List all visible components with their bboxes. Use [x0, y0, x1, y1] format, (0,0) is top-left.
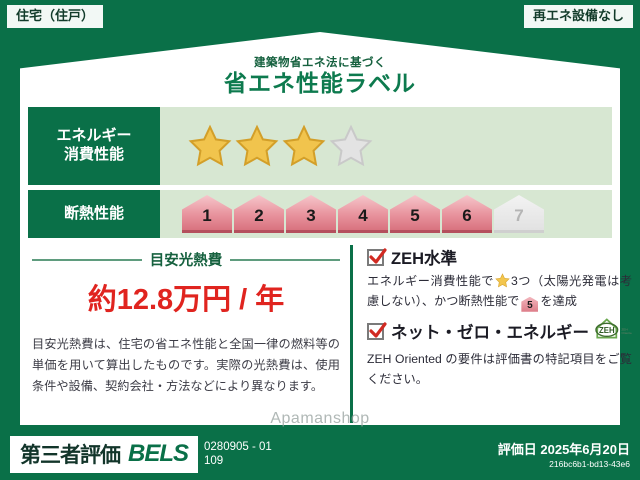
insulation-label-text: 断熱性能	[64, 205, 124, 224]
utility-cost-value: 約12.8万円 / 年	[32, 276, 340, 318]
zeh-section: ZEH水準 エネルギー消費性能で3つ（太陽光発電は考慮しない）、かつ断熱性能で5…	[350, 245, 632, 423]
utility-cost-note: 目安光熱費は、住宅の省エネ性能と全国一律の燃料等の単価を用いて算出したものです。…	[32, 334, 340, 397]
insulation-level-scale: 1234567	[182, 195, 546, 233]
insulation-level-1: 1	[182, 195, 232, 233]
zeh-standard-body: エネルギー消費性能で3つ（太陽光発電は考慮しない）、かつ断熱性能で5を達成	[367, 272, 632, 312]
label-title: 省エネ性能ラベル	[224, 69, 416, 98]
energy-performance-label: エネルギー 消費性能	[28, 107, 160, 185]
insulation-level-number: 6	[462, 206, 471, 233]
label-subtitle: 建築物省エネ法に基づく	[254, 57, 386, 70]
insulation-performance-label: 断熱性能	[28, 190, 160, 238]
star-icon-filled	[188, 124, 232, 168]
utility-cost-heading-text: 目安光熱費	[142, 249, 231, 270]
check-icon-net-zero-energy	[367, 323, 384, 340]
zeh-body-pre: エネルギー消費性能で	[367, 274, 494, 288]
insulation-level-4: 4	[338, 195, 388, 233]
energy-performance-row: エネルギー 消費性能	[28, 107, 612, 185]
insulation-level-number: 4	[358, 206, 367, 233]
certificate-number: 0280905 - 01 109	[204, 440, 272, 469]
bels-logo: 第三者評価 BELS	[10, 436, 198, 473]
zeh-logo-icon: ZEH ZEH Oriented	[592, 316, 632, 347]
zeh-standard-item: ZEH水準 エネルギー消費性能で3つ（太陽光発電は考慮しない）、かつ断熱性能で5…	[367, 245, 632, 312]
bels-jp-text: 第三者評価	[20, 439, 120, 469]
insulation-level-2: 2	[234, 195, 284, 233]
footer-right-block: 評価日 2025年6月20日 216bc6b1-bd13-43e6	[498, 439, 630, 469]
insulation-level-number: 2	[254, 206, 263, 233]
heading-rule-right	[230, 259, 340, 261]
utility-cost-heading: 目安光熱費	[32, 249, 340, 270]
evaluation-date: 評価日 2025年6月20日	[498, 439, 630, 458]
insulation-level-number: 7	[514, 206, 523, 233]
insulation-level-6: 6	[442, 195, 492, 233]
tag-building-type: 住宅（住戸）	[7, 5, 103, 28]
zeh-body-post: を達成	[540, 294, 577, 308]
insulation-badge-inline: 5	[521, 297, 538, 312]
insulation-level-3: 3	[286, 195, 336, 233]
footer-bar: 第三者評価 BELS 0280905 - 01 109 評価日 2025年6月2…	[0, 428, 640, 480]
star-rating	[160, 107, 612, 185]
main-panel: エネルギー 消費性能 断熱性能 1234567 目安光熱費 約12.8	[20, 100, 620, 425]
net-zero-energy-body: ZEH Oriented の要件は評価書の特記項目をご覧ください。	[367, 350, 632, 390]
insulation-level-7: 7	[494, 195, 544, 233]
insulation-performance-row: 断熱性能 1234567	[28, 190, 612, 238]
zeh-standard-title: ZEH水準	[391, 245, 457, 269]
star-icon-inline	[495, 273, 510, 288]
insulation-level-number: 5	[410, 206, 419, 233]
net-zero-energy-title: ネット・ゼロ・エネルギー	[391, 319, 589, 343]
star-icon-filled	[235, 124, 279, 168]
record-hash: 216bc6b1-bd13-43e6	[498, 459, 630, 469]
insulation-level-number: 1	[202, 206, 211, 233]
roof-shape: 建築物省エネ法に基づく 省エネ性能ラベル	[20, 32, 620, 102]
insulation-level-number: 3	[306, 206, 315, 233]
energy-performance-label: 建築物省エネ法に基づく 省エネ性能ラベル 住宅（住戸） 再エネ設備なし エネルギ…	[0, 0, 640, 480]
check-icon-zeh-standard	[367, 249, 384, 266]
utility-cost-section: 目安光熱費 約12.8万円 / 年 目安光熱費は、住宅の省エネ性能と全国一律の燃…	[28, 245, 346, 423]
tag-renewable-equipment: 再エネ設備なし	[524, 5, 633, 28]
star-icon-filled	[282, 124, 326, 168]
energy-label-line2: 消費性能	[64, 146, 124, 165]
energy-label-line1: エネルギー	[56, 127, 131, 146]
insulation-level-5: 5	[390, 195, 440, 233]
net-zero-energy-item: ネット・ゼロ・エネルギー ZEH ZEH Oriented ZEH Orient…	[367, 316, 632, 390]
svg-text:ZEH: ZEH	[599, 326, 615, 335]
heading-rule-left	[32, 259, 142, 261]
star-icon-empty	[329, 124, 373, 168]
bels-en-text: BELS	[128, 440, 188, 468]
svg-text:Oriented: Oriented	[622, 331, 632, 335]
